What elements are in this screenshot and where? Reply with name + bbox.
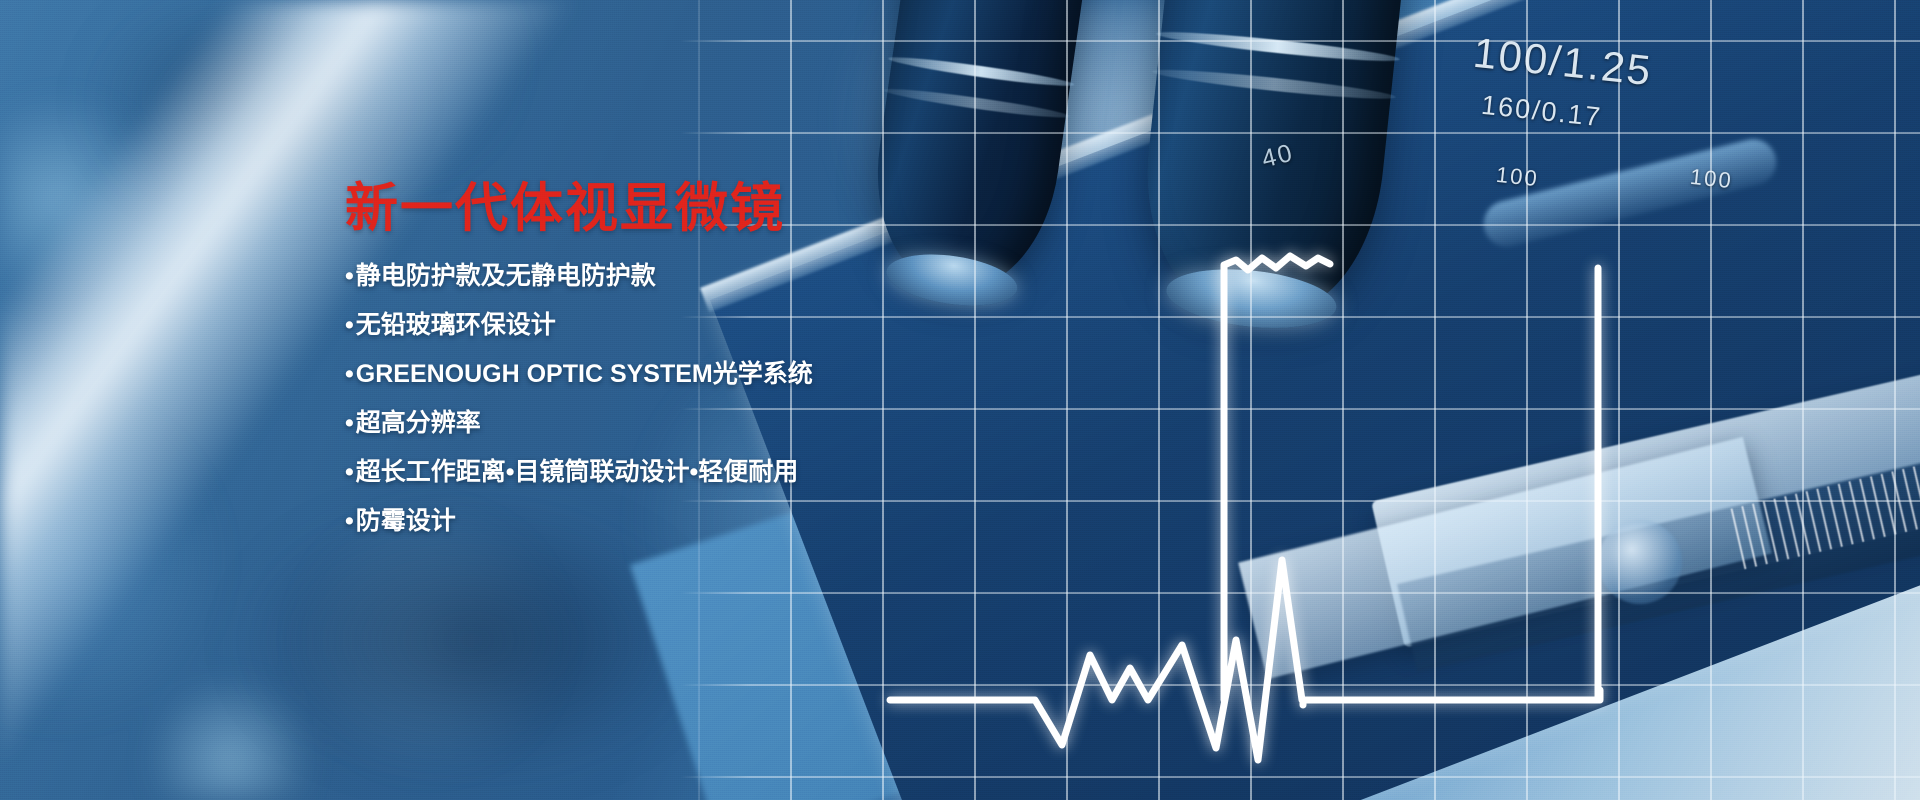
bullet-icon: •: [345, 458, 354, 486]
bullet-icon: •: [345, 409, 354, 437]
feature-label: GREENOUGH OPTIC SYSTEM光学系统: [356, 360, 813, 388]
bullet-icon: •: [345, 360, 354, 388]
page-title: 新一代体视显微镜: [345, 180, 965, 238]
feature-label: 静电防护款及无静电防护款: [356, 262, 656, 290]
product-hero-banner: 100/1.25 160/0.17 100 100 40 新一代体视显微镜 •静…: [0, 0, 1920, 800]
feature-label: 超长工作距离•目镜筒联动设计•轻便耐用: [356, 458, 799, 486]
bullet-icon: •: [345, 507, 354, 535]
bullet-icon: •: [345, 262, 354, 290]
feature-item: •超高分辨率: [345, 411, 965, 436]
feature-label: 无铅玻璃环保设计: [356, 311, 556, 339]
feature-label: 防霉设计: [356, 507, 456, 535]
feature-item: •静电防护款及无静电防护款: [345, 264, 965, 289]
feature-item: •超长工作距离•目镜筒联动设计•轻便耐用: [345, 460, 965, 485]
feature-list: •静电防护款及无静电防护款•无铅玻璃环保设计•GREENOUGH OPTIC S…: [345, 264, 965, 534]
bullet-icon: •: [345, 311, 354, 339]
copy-block: 新一代体视显微镜 •静电防护款及无静电防护款•无铅玻璃环保设计•GREENOUG…: [345, 180, 965, 558]
feature-item: •无铅玻璃环保设计: [345, 313, 965, 338]
feature-item: •GREENOUGH OPTIC SYSTEM光学系统: [345, 362, 965, 387]
feature-label: 超高分辨率: [356, 409, 481, 437]
feature-item: •防霉设计: [345, 509, 965, 534]
